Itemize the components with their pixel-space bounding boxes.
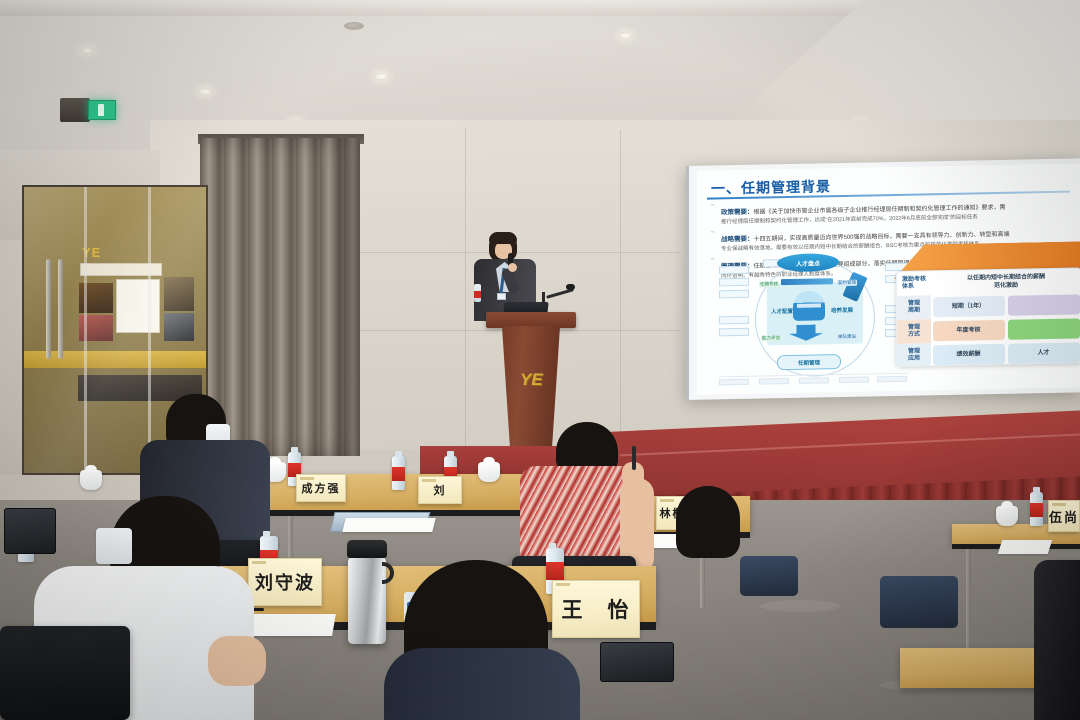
chair [0,626,130,720]
exit-sign [88,100,116,120]
placard-liu-partial[interactable]: 刘 [418,476,462,504]
footer-chip [799,377,829,384]
table-leg [966,549,971,649]
banner-line-1: 战略目标 [1027,167,1073,177]
podium-water-bottle [474,284,481,302]
downlight [618,32,633,39]
placard-wushang[interactable]: 伍尚 [1048,500,1080,532]
podium-logo: YE [520,370,542,390]
podium-top [486,312,576,328]
table-row-value: 年度考核 [933,320,1005,341]
teacup [478,462,500,482]
chair [880,576,958,628]
microphone-head-icon [566,284,575,290]
footer-chip [877,376,907,383]
placard-name: 王 怡 [562,594,631,624]
placard-wangyi[interactable]: 王 怡 [552,580,640,638]
diagram-tag [719,278,749,287]
placard-liushoubo[interactable]: 刘守波 [248,558,322,606]
teacup [996,506,1018,526]
downlight [374,73,389,80]
banner-line-2: 实现高质量迈向 [1027,176,1073,186]
diagram-bar [781,278,833,285]
chair [740,556,798,596]
diagram-chip: 梯队建设 [837,334,857,340]
table-header-value: 以任期内短中长期结合的薪酬 范化激励 [933,270,1080,293]
table-row: 管理 周期 短期（1年） [897,292,1080,320]
diagram-chip: 能力评估 [761,335,781,341]
table-row: 管理 方式 年度考核 [897,316,1080,344]
table-row-value: 短期（1年） [933,296,1005,317]
table-row-label: 管理 方式 [897,319,931,344]
teacup [80,470,102,490]
table-row-value-right: 人才 [1008,342,1080,363]
bullet-dash: – [711,201,717,227]
water-bottle [1030,492,1043,526]
paper-sheet [998,540,1053,554]
diagram-tag [719,266,749,275]
bullet-key: 政策需要： [721,209,754,217]
table-row-value-right [1008,318,1080,339]
diagram-helmet-icon [793,290,825,321]
placard-cheng[interactable]: 成方强 [296,474,346,502]
speaker-hand [508,263,517,272]
attendee-hair [676,486,740,558]
diagram-chip: 任期考核 [759,281,779,287]
diagram-tag [719,290,749,299]
attendee-arm [208,636,266,686]
bullet-dash: – [711,228,717,254]
slide-circular-diagram: 人才盘点 人才配置 培养发展 任期管理 任期考核 能力评估 契约管理 梯队建设 [719,255,919,384]
placard-name: 成方强 [302,480,341,496]
tablet-device[interactable] [4,508,56,554]
exit-icon [98,104,107,116]
ceiling-vent [344,22,364,30]
microphone-pole [542,292,545,306]
bottle-label [546,562,564,580]
footer-chip [839,376,869,383]
diagram-left-label: 人才配置 [771,307,793,315]
wall-seam [465,128,466,450]
diagram-chip: 契约管理 [837,280,857,286]
table-row: 管理 应用 绩效薪酬 人才 [897,340,1080,367]
table-header-label: 激励考核 体系 [897,271,931,296]
paper-sheet [342,518,435,532]
presentation-slide: 一、任期管理背景 – 政策需要：根据《关于加快市管企业市属各级子企业推行经理层任… [697,163,1080,394]
placard-name: 刘 [434,482,447,498]
bullet-dash: – [711,255,717,281]
attendee-navy-top [384,648,580,720]
conference-room-photo: YE 一、任期管理背景 – 政策需要：根据《关于加快市管企业市属各级子企业推行经… [0,0,1080,720]
water-bottle [392,456,405,490]
tablet-device[interactable] [600,642,674,682]
diagram-tag [719,328,749,337]
exit-sign-housing [60,98,90,122]
diagram-right-label: 培养发展 [831,306,853,314]
speaker-hair [489,232,517,244]
footer-chip [719,379,749,386]
thermos-cap [347,540,387,558]
banner-text: 战略目标 实现高质量迈向 [1027,167,1073,187]
bullet-key: 战略需要： [721,236,754,244]
bottle-label [392,467,405,481]
face-mask [96,528,132,564]
footer-chip [759,378,789,385]
attendee-dark-right [1034,560,1080,720]
window-curtain [200,138,360,456]
downlight [80,47,95,54]
projection-screen: 一、任期管理背景 – 政策需要：根据《关于加快市管企业市属各级子企业推行经理层任… [686,158,1080,400]
table-row-label: 管理 应用 [897,343,931,367]
table-row-value-right [1008,294,1080,315]
bottle-label [1030,503,1043,517]
slide-comparison-table: 激励考核 体系 以任期内短中长期结合的薪酬 范化激励 管理 周期 短期（1年） … [896,267,1080,367]
table-header-row: 激励考核 体系 以任期内短中长期结合的薪酬 范化激励 [897,268,1080,296]
table-row-label: 管理 周期 [897,295,931,320]
floor-texture [760,600,840,612]
thermos-flask [348,556,386,644]
diagram-bottom-node: 任期管理 [777,354,841,370]
diagram-tag [719,316,749,325]
wall-seam [620,130,621,448]
placard-name: 刘守波 [255,569,315,595]
speaker-badge [497,293,506,300]
pen [632,446,636,470]
downlight [198,88,213,95]
table-row-value: 绩效薪酬 [933,344,1005,365]
placard-name: 伍尚 [1049,507,1079,526]
